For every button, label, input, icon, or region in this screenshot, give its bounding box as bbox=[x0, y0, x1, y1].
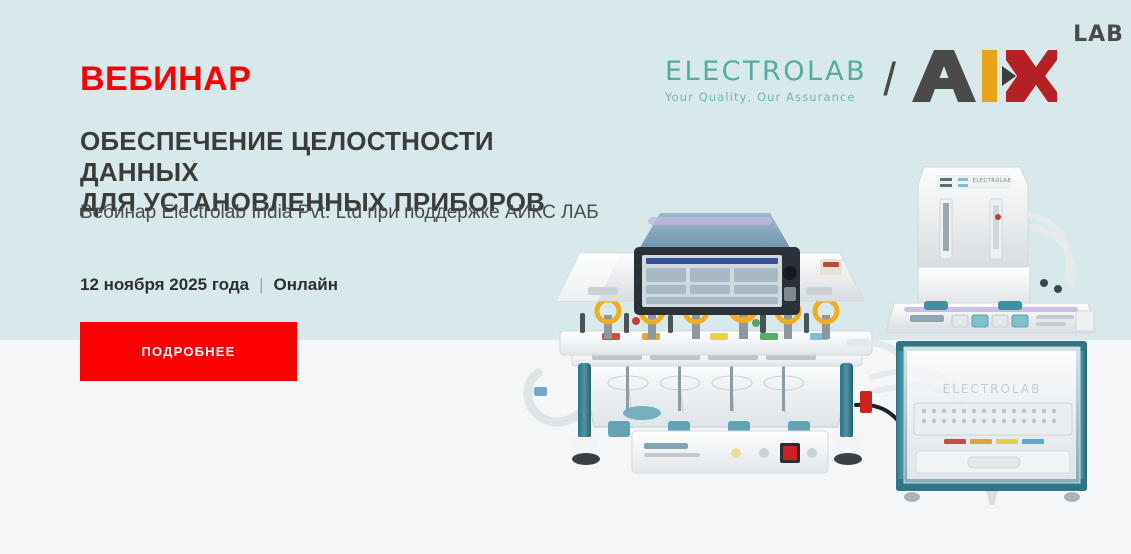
logo-lockup: ELECTROLAB Your Quality, Our Assurance /… bbox=[665, 46, 1058, 104]
event-date: 12 ноября 2025 года bbox=[80, 274, 249, 296]
product-photo: ELECTROLAB bbox=[520, 155, 1131, 515]
event-meta: 12 ноября 2025 года | Онлайн bbox=[80, 274, 338, 296]
aix-lab-wordmark: LAB bbox=[1073, 22, 1124, 47]
kicker-label: ВЕБИНАР bbox=[80, 62, 251, 96]
electrolab-tagline: Your Quality, Our Assurance bbox=[665, 90, 856, 104]
svg-text:ELECTROLAB: ELECTROLAB bbox=[973, 178, 1012, 184]
electrolab-logo: ELECTROLAB Your Quality, Our Assurance bbox=[665, 58, 867, 104]
logo-divider-slash: / bbox=[883, 58, 896, 102]
aix-wordmark-icon bbox=[910, 46, 1058, 104]
meta-separator: | bbox=[259, 274, 263, 296]
aixlab-logo: LAB bbox=[910, 46, 1058, 104]
electrolab-wordmark: ELECTROLAB bbox=[665, 58, 867, 85]
learn-more-button[interactable]: ПОДРОБНЕЕ bbox=[80, 322, 297, 381]
event-format: Онлайн bbox=[274, 274, 338, 296]
headline-line-1: ОБЕСПЕЧЕНИЕ ЦЕЛОСТНОСТИ ДАННЫХ bbox=[80, 126, 494, 187]
svg-text:ELECTROLAB: ELECTROLAB bbox=[943, 382, 1042, 396]
webinar-banner: ВЕБИНАР ОБЕСПЕЧЕНИЕ ЦЕЛОСТНОСТИ ДАННЫХ Д… bbox=[0, 0, 1131, 554]
